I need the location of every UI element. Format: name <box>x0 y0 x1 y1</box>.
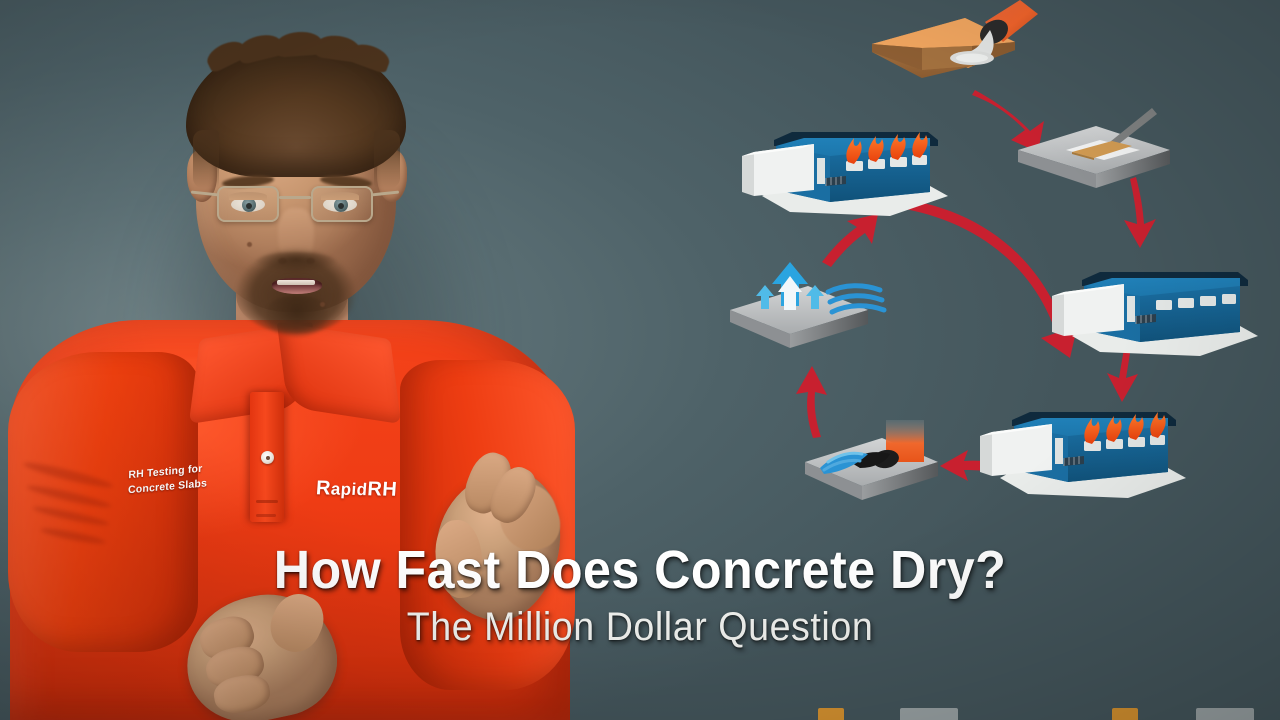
shirt-button-hole <box>266 456 270 460</box>
arrow-flooring-to-evaporation <box>796 366 827 438</box>
facial-mole <box>320 302 325 307</box>
chest-logo-r: R <box>315 477 331 499</box>
arrow-evaporation-to-building <box>822 214 878 267</box>
chest-logo: RapidRH <box>315 477 398 501</box>
cropped-logo-mark <box>1112 708 1138 720</box>
presenter: RH Testing for Concrete Slabs RapidRH <box>0 0 620 720</box>
flooring-install-icon <box>805 420 938 500</box>
arrow-pour-to-finish <box>972 90 1044 152</box>
concrete-cycle-diagram <box>700 0 1280 560</box>
building-flames-icon <box>980 412 1186 498</box>
sideburn-right <box>374 130 400 188</box>
bottom-cropped-logos <box>0 706 1280 720</box>
arrow-finish-to-building <box>1124 177 1156 248</box>
placket-seam <box>256 514 276 517</box>
mustache <box>256 252 336 272</box>
cropped-logo-word <box>900 708 958 720</box>
chest-logo-apid: apid <box>330 480 368 500</box>
arrow-left-building-to-failure <box>867 197 1078 358</box>
cropped-logo-mark <box>818 708 844 720</box>
cropped-logo-word <box>1196 708 1254 720</box>
chest-logo-rh: RH <box>367 478 398 501</box>
eyeglasses-bridge <box>279 196 311 199</box>
slab-trowel-icon <box>1018 108 1170 188</box>
concrete-pour-icon <box>870 0 1038 78</box>
building-left-icon <box>742 132 948 216</box>
eyeglasses-lens-right <box>311 186 373 222</box>
facial-mole <box>247 242 252 247</box>
sideburn-left <box>193 130 219 188</box>
chin-beard <box>266 296 328 338</box>
building-icon <box>1052 272 1258 356</box>
placket-seam <box>256 500 278 503</box>
moisture-evaporation-icon <box>730 262 884 348</box>
eyeglasses-lens-left <box>217 186 279 222</box>
teeth <box>277 280 315 285</box>
video-frame: RH Testing for Concrete Slabs RapidRH <box>0 0 1280 720</box>
